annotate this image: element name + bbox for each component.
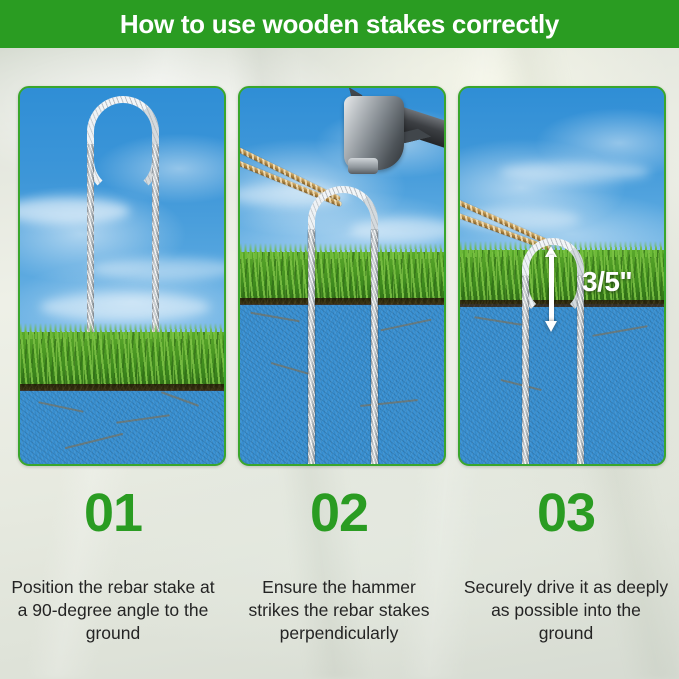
infographic-poster: How to use wooden stakes correctly bbox=[0, 0, 679, 679]
measurement-arrow bbox=[545, 246, 557, 332]
sky-background bbox=[460, 88, 664, 260]
step-image-panel-2 bbox=[238, 86, 446, 466]
steps-row: 01 Position the rebar stake at a 90-degr… bbox=[0, 470, 679, 679]
step-number-03: 03 bbox=[453, 486, 679, 540]
soil-layer bbox=[460, 300, 664, 464]
step-2: 02 Ensure the hammer strikes the rebar s… bbox=[226, 470, 452, 645]
step-number-02: 02 bbox=[226, 486, 452, 540]
soil-layer bbox=[20, 384, 224, 464]
step-3: 03 Securely drive it as deeply as possib… bbox=[453, 470, 679, 645]
measurement-label: 3/5" bbox=[582, 266, 632, 298]
rebar-leg-left-front bbox=[308, 230, 315, 464]
step-number-01: 01 bbox=[0, 486, 226, 540]
step-1: 01 Position the rebar stake at a 90-degr… bbox=[0, 470, 226, 645]
panel-row: 3/5" bbox=[0, 86, 679, 464]
soil-texture bbox=[20, 384, 224, 464]
step-caption-03: Securely drive it as deeply as possible … bbox=[453, 576, 679, 645]
hammer-striking-face bbox=[348, 158, 378, 174]
step-image-panel-1 bbox=[18, 86, 226, 466]
cloud-wisp bbox=[40, 293, 210, 321]
step-caption-01: Position the rebar stake at a 90-degree … bbox=[0, 576, 226, 645]
step-caption-02: Ensure the hammer strikes the rebar stak… bbox=[226, 576, 452, 645]
cloud-wisp bbox=[18, 198, 130, 224]
rebar-leg-right bbox=[577, 276, 584, 464]
rebar-leg-right-front bbox=[371, 230, 378, 464]
grass-layer bbox=[240, 252, 444, 304]
soil-texture bbox=[460, 300, 664, 464]
rebar-arch-ribs bbox=[87, 96, 159, 196]
title-banner: How to use wooden stakes correctly bbox=[0, 0, 679, 48]
arrow-head-down-icon bbox=[545, 321, 557, 332]
cloud-wisp bbox=[500, 162, 650, 182]
rebar-leg-left bbox=[522, 276, 529, 464]
soil-layer bbox=[240, 298, 444, 464]
step-image-panel-3: 3/5" bbox=[458, 86, 666, 466]
grass-layer bbox=[20, 332, 224, 390]
arrow-shaft bbox=[549, 255, 554, 323]
page-title: How to use wooden stakes correctly bbox=[120, 9, 559, 40]
